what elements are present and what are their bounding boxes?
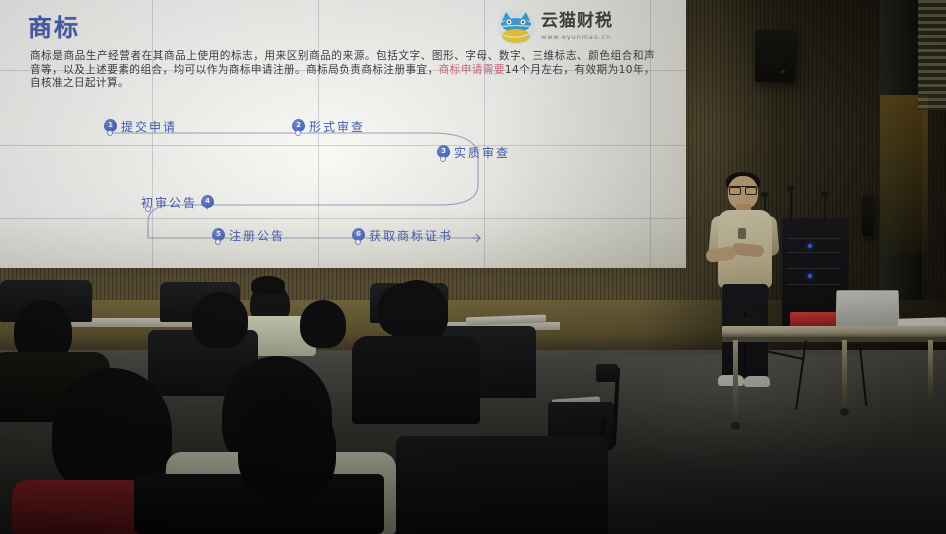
flow-node-ring bbox=[107, 130, 113, 136]
slide-grid-line bbox=[650, 0, 651, 268]
map-pin-icon: 4 bbox=[201, 195, 214, 211]
audience-head bbox=[300, 300, 346, 348]
slide-grid-line bbox=[0, 145, 686, 146]
brand-logo: 云猫财税 www.eyunmao.cn bbox=[496, 7, 613, 47]
slide-body-text: 商标是商品生产经营者在其商品上使用的标志，用来区别商品的来源。包括文字、图形、字… bbox=[30, 50, 655, 91]
chair bbox=[396, 436, 608, 534]
cat-face-logo-icon bbox=[496, 7, 536, 47]
presenter-shoe-left bbox=[718, 375, 744, 386]
presenter-table-apron bbox=[722, 337, 946, 342]
flow-step-5: 5 注册公告 bbox=[212, 227, 285, 244]
window-blind bbox=[918, 0, 946, 110]
flow-step-1: 1 提交申请 bbox=[104, 118, 177, 135]
flow-node-ring bbox=[440, 156, 446, 162]
audience-head bbox=[192, 292, 248, 348]
table-leg bbox=[733, 340, 738, 424]
flow-node-ring bbox=[215, 239, 221, 245]
audience-body bbox=[352, 336, 480, 424]
flow-step-2: 2 形式审查 bbox=[292, 118, 365, 135]
rack-led-blue bbox=[808, 274, 812, 278]
floor-speaker-icon bbox=[862, 196, 873, 236]
slide-title: 商标 bbox=[28, 8, 80, 43]
flow-step-6: 6 获取商标证书 bbox=[352, 227, 453, 244]
chair-headrest bbox=[596, 364, 618, 382]
flow-step-5-label: 注册公告 bbox=[229, 227, 285, 244]
presenter-shoe-right bbox=[744, 376, 770, 387]
eyeglasses-icon bbox=[729, 186, 757, 192]
flow-node-ring bbox=[295, 130, 301, 136]
flow-node-ring bbox=[145, 206, 151, 212]
mic-stand bbox=[824, 196, 826, 224]
presenter-shirt-print bbox=[738, 228, 746, 239]
flow-step-3: 3 实质审查 bbox=[437, 144, 510, 161]
flow-step-6-label: 获取商标证书 bbox=[369, 227, 453, 244]
flow-step-2-label: 形式审查 bbox=[309, 118, 365, 135]
laptop-icon bbox=[836, 290, 900, 326]
speaker-led bbox=[781, 70, 785, 73]
audience-head bbox=[386, 280, 448, 344]
mic-head-icon bbox=[821, 192, 828, 197]
presenter-person bbox=[700, 172, 790, 402]
red-case-icon bbox=[790, 312, 836, 327]
lecture-hall-screenshot: 商标 云猫财税 www.e bbox=[0, 0, 946, 534]
slide-grid-line bbox=[484, 0, 485, 268]
presenter-table-top bbox=[722, 326, 946, 337]
brand-url: www.eyunmao.cn bbox=[541, 34, 613, 41]
body-text-highlight: 商标申请需要 bbox=[439, 64, 505, 76]
flow-step-1-label: 提交申请 bbox=[121, 118, 177, 135]
flow-step-4: 4 初审公告 bbox=[141, 194, 214, 211]
projection-screen: 商标 云猫财税 www.e bbox=[0, 0, 686, 268]
table-caster bbox=[840, 408, 849, 416]
rack-led-blue bbox=[808, 244, 812, 248]
flow-step-3-label: 实质审查 bbox=[454, 144, 510, 161]
audience-head bbox=[238, 392, 336, 502]
doorway-warm-light bbox=[880, 95, 928, 255]
table-leg bbox=[842, 340, 847, 410]
wall-speaker-icon bbox=[755, 30, 795, 82]
flow-node-ring bbox=[355, 239, 361, 245]
table-leg bbox=[928, 340, 933, 398]
audience-hair-bun bbox=[251, 276, 285, 294]
brand-name: 云猫财税 bbox=[541, 13, 613, 30]
slide-grid-line bbox=[0, 218, 686, 219]
mic-stand bbox=[790, 190, 792, 224]
table-caster bbox=[731, 422, 740, 430]
